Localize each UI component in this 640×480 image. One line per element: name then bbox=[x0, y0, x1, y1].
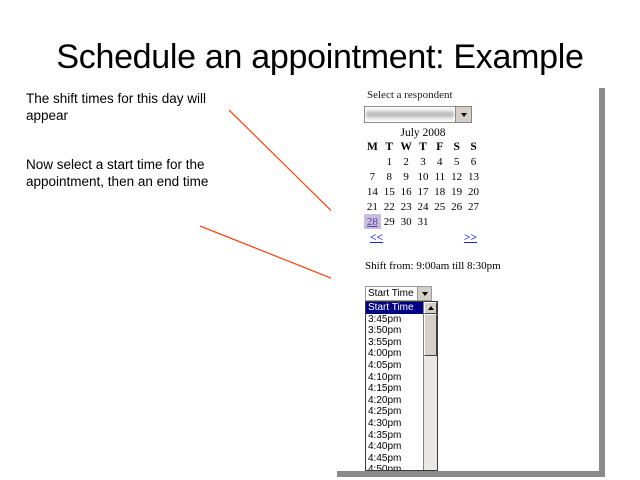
calendar-weekday-row: M T W T F S S bbox=[364, 140, 482, 154]
calendar-day[interactable]: 18 bbox=[431, 184, 448, 199]
calendar-day-label: 2 bbox=[403, 156, 409, 168]
calendar-prev-link[interactable]: << bbox=[370, 232, 383, 244]
calendar-day[interactable]: 2 bbox=[398, 154, 415, 169]
calendar-day-label: 23 bbox=[401, 201, 412, 213]
calendar-grid: M T W T F S S 12345678910111213141516171… bbox=[364, 140, 482, 229]
calendar-day[interactable]: 1 bbox=[381, 154, 398, 169]
calendar-day[interactable]: 19 bbox=[448, 184, 465, 199]
shift-hours-text: Shift from: 9:00am till 8:30pm bbox=[365, 260, 501, 272]
calendar-day-label: 4 bbox=[437, 156, 443, 168]
time-option[interactable]: 4:05pm bbox=[366, 360, 423, 372]
calendar-day-label: 29 bbox=[384, 216, 395, 228]
time-option[interactable]: 4:40pm bbox=[366, 441, 423, 453]
calendar-day-empty bbox=[364, 154, 381, 169]
calendar-day-label: 21 bbox=[367, 201, 378, 213]
time-option[interactable]: 4:20pm bbox=[366, 395, 423, 407]
calendar-day[interactable]: 10 bbox=[415, 169, 432, 184]
calendar-day[interactable]: 5 bbox=[448, 154, 465, 169]
calendar-day[interactable]: 30 bbox=[398, 214, 415, 229]
calendar-day-label: 6 bbox=[471, 156, 477, 168]
calendar-weekday: T bbox=[415, 140, 432, 154]
calendar-day[interactable]: 9 bbox=[398, 169, 415, 184]
calendar-day-label: 24 bbox=[417, 201, 428, 213]
time-option[interactable]: 4:30pm bbox=[366, 418, 423, 430]
time-option[interactable]: 3:50pm bbox=[366, 325, 423, 337]
time-option[interactable]: Start Time bbox=[366, 302, 423, 314]
start-time-select[interactable]: Start Time bbox=[365, 286, 432, 301]
calendar-day[interactable]: 8 bbox=[381, 169, 398, 184]
calendar-day-label: 30 bbox=[401, 216, 412, 228]
calendar-weekday: F bbox=[431, 140, 448, 154]
time-option[interactable]: 3:55pm bbox=[366, 337, 423, 349]
calendar: July 2008 M T W T F S S 1234567891011121… bbox=[364, 127, 482, 248]
calendar-day-label: 10 bbox=[417, 171, 428, 183]
calendar-day[interactable]: 21 bbox=[364, 199, 381, 214]
time-option[interactable]: 4:35pm bbox=[366, 430, 423, 442]
respondent-selected-value bbox=[366, 108, 454, 121]
calendar-day-label: 3 bbox=[420, 156, 426, 168]
calendar-day[interactable]: 24 bbox=[415, 199, 432, 214]
calendar-day-label: 19 bbox=[451, 186, 462, 198]
time-option[interactable]: 3:45pm bbox=[366, 314, 423, 326]
calendar-day-label: 16 bbox=[401, 186, 412, 198]
calendar-day-label: 31 bbox=[417, 216, 428, 228]
calendar-day-label: 15 bbox=[384, 186, 395, 198]
start-time-selected-value: Start Time bbox=[366, 288, 417, 299]
calendar-day-label: 9 bbox=[403, 171, 409, 183]
respondent-select[interactable] bbox=[364, 106, 472, 123]
calendar-day[interactable]: 31 bbox=[415, 214, 432, 229]
annotation-shift-times: The shift times for this day will appear bbox=[26, 90, 241, 124]
calendar-day-label: 28 bbox=[367, 216, 378, 228]
calendar-day[interactable]: 15 bbox=[381, 184, 398, 199]
calendar-day[interactable]: 14 bbox=[364, 184, 381, 199]
calendar-day-label: 1 bbox=[387, 156, 393, 168]
calendar-day-empty bbox=[465, 214, 482, 229]
calendar-day-label: 7 bbox=[370, 171, 376, 183]
calendar-next-link[interactable]: >> bbox=[464, 232, 477, 244]
calendar-month-label: July 2008 bbox=[364, 127, 482, 140]
calendar-day[interactable]: 26 bbox=[448, 199, 465, 214]
page-title: Schedule an appointment: Example bbox=[0, 38, 640, 77]
calendar-day-label: 20 bbox=[468, 186, 479, 198]
calendar-day[interactable]: 17 bbox=[415, 184, 432, 199]
calendar-day-label: 12 bbox=[451, 171, 462, 183]
calendar-day[interactable]: 12 bbox=[448, 169, 465, 184]
time-option[interactable]: 4:15pm bbox=[366, 383, 423, 395]
time-option[interactable]: 4:45pm bbox=[366, 453, 423, 465]
calendar-weekday: T bbox=[381, 140, 398, 154]
respondent-label: Select a respondent bbox=[367, 89, 453, 101]
calendar-day[interactable]: 23 bbox=[398, 199, 415, 214]
calendar-day[interactable]: 22 bbox=[381, 199, 398, 214]
time-option[interactable]: 4:00pm bbox=[366, 348, 423, 360]
calendar-day-label: 22 bbox=[384, 201, 395, 213]
calendar-day[interactable]: 29 bbox=[381, 214, 398, 229]
start-time-option-list[interactable]: Start Time3:45pm3:50pm3:55pm4:00pm4:05pm… bbox=[366, 302, 423, 470]
chevron-up-icon[interactable] bbox=[424, 302, 437, 314]
calendar-day[interactable]: 20 bbox=[465, 184, 482, 199]
calendar-week-row: 14151617181920 bbox=[364, 184, 482, 199]
calendar-body: 1234567891011121314151617181920212223242… bbox=[364, 154, 482, 229]
appointment-scheduler-panel: Select a respondent July 2008 M T W T F … bbox=[331, 82, 599, 471]
calendar-day[interactable]: 3 bbox=[415, 154, 432, 169]
calendar-day-label: 13 bbox=[468, 171, 479, 183]
calendar-day-empty bbox=[448, 214, 465, 229]
calendar-day[interactable]: 25 bbox=[431, 199, 448, 214]
listbox-scrollbar[interactable] bbox=[423, 302, 437, 470]
scrollbar-thumb[interactable] bbox=[424, 314, 437, 356]
calendar-day-label: 27 bbox=[468, 201, 479, 213]
calendar-day[interactable]: 6 bbox=[465, 154, 482, 169]
calendar-weekday: S bbox=[448, 140, 465, 154]
annotation-select-start-time: Now select a start time for the appointm… bbox=[26, 156, 241, 190]
calendar-day[interactable]: 28 bbox=[364, 214, 381, 229]
calendar-day[interactable]: 13 bbox=[465, 169, 482, 184]
calendar-day-label: 25 bbox=[434, 201, 445, 213]
calendar-day[interactable]: 27 bbox=[465, 199, 482, 214]
time-option[interactable]: 4:25pm bbox=[366, 406, 423, 418]
calendar-day-empty bbox=[431, 214, 448, 229]
calendar-day-label: 5 bbox=[454, 156, 460, 168]
chevron-down-icon[interactable] bbox=[417, 287, 431, 300]
calendar-day-label: 17 bbox=[417, 186, 428, 198]
calendar-weekday: S bbox=[465, 140, 482, 154]
calendar-day-label: 18 bbox=[434, 186, 445, 198]
calendar-weekday: W bbox=[398, 140, 415, 154]
chevron-down-icon[interactable] bbox=[455, 107, 471, 122]
calendar-day-label: 11 bbox=[435, 171, 446, 183]
calendar-day[interactable]: 16 bbox=[398, 184, 415, 199]
calendar-day-label: 26 bbox=[451, 201, 462, 213]
calendar-week-row: 78910111213 bbox=[364, 169, 482, 184]
calendar-weekday: M bbox=[364, 140, 381, 154]
time-option[interactable]: 4:50pm bbox=[366, 464, 423, 470]
calendar-day[interactable]: 7 bbox=[364, 169, 381, 184]
calendar-day[interactable]: 11 bbox=[431, 169, 448, 184]
calendar-day-label: 14 bbox=[367, 186, 378, 198]
calendar-week-row: 21222324252627 bbox=[364, 199, 482, 214]
calendar-day-label: 8 bbox=[387, 171, 393, 183]
start-time-listbox[interactable]: Start Time3:45pm3:50pm3:55pm4:00pm4:05pm… bbox=[365, 301, 438, 471]
calendar-nav: << >> bbox=[364, 232, 482, 248]
time-option[interactable]: 4:10pm bbox=[366, 372, 423, 384]
calendar-week-row: 123456 bbox=[364, 154, 482, 169]
calendar-day[interactable]: 4 bbox=[431, 154, 448, 169]
calendar-week-row: 28293031 bbox=[364, 214, 482, 229]
